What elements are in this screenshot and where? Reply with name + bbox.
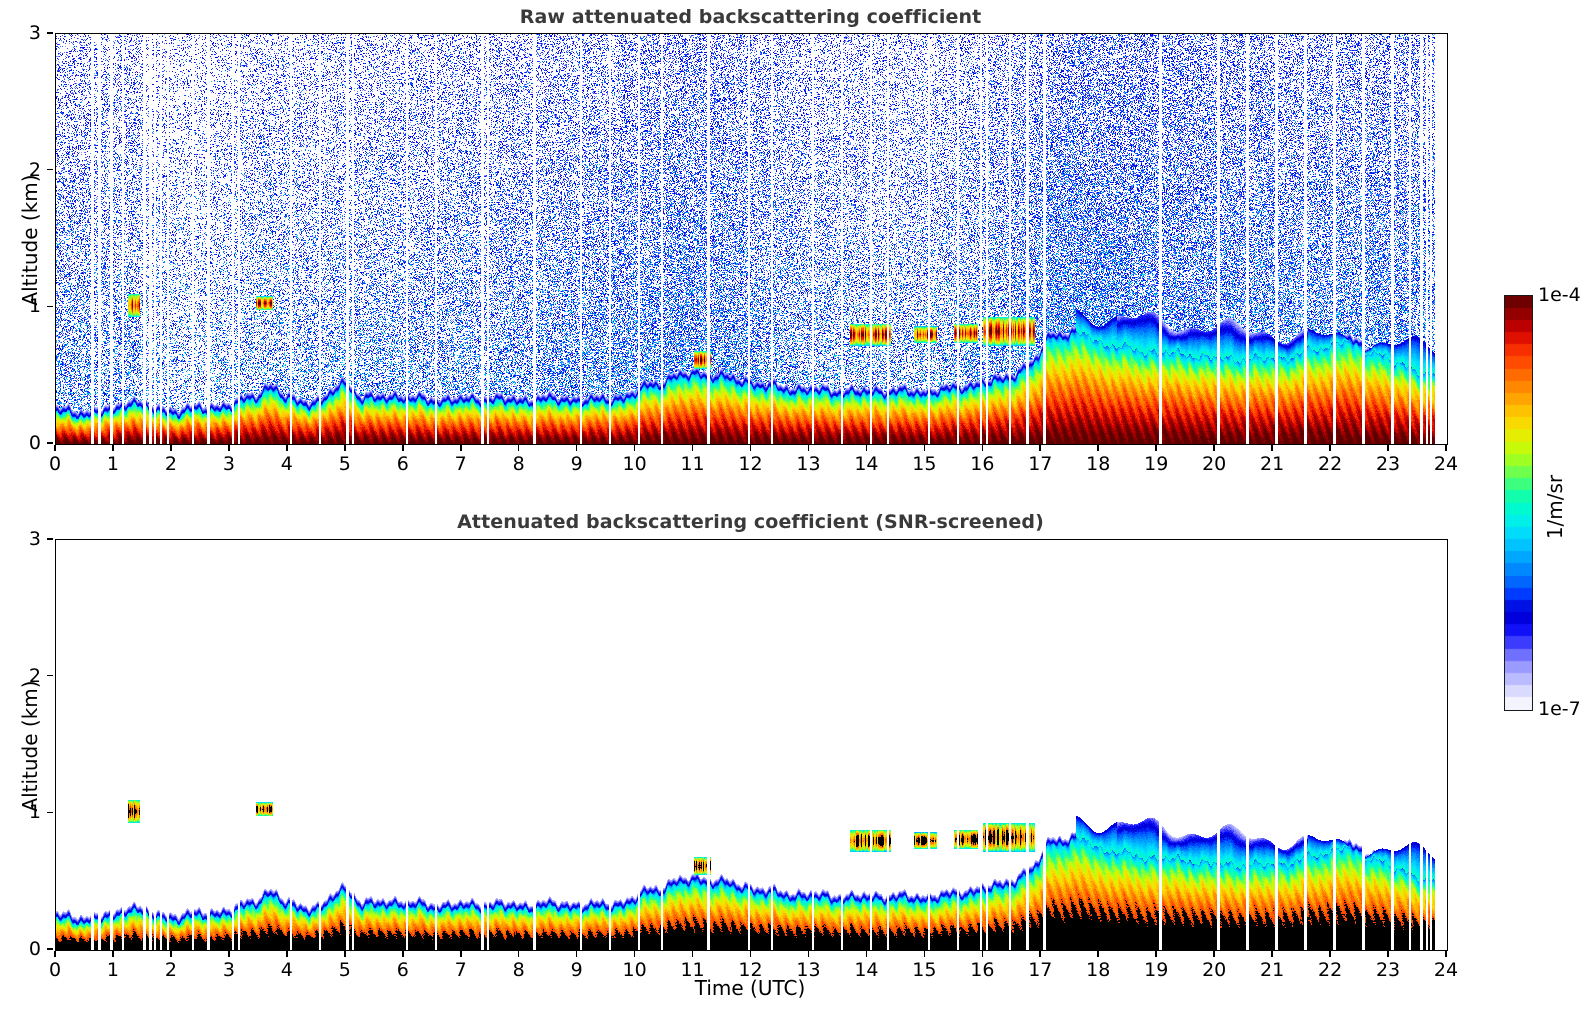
lidar-backscatter-figure: Raw attenuated backscattering coefficien… — [0, 0, 1595, 1020]
xlabel-screened: Time (UTC) — [695, 976, 806, 1000]
xtick-mark — [924, 951, 926, 957]
ytick-mark — [47, 306, 53, 308]
xtick-mark — [344, 445, 346, 451]
xtick-mark — [808, 445, 810, 451]
xtick-label: 18 — [1086, 453, 1110, 475]
xtick-mark — [402, 951, 404, 957]
ytick-label: 3 — [7, 22, 41, 44]
xtick-label: 22 — [1318, 453, 1342, 475]
xtick-label: 6 — [397, 453, 409, 475]
ytick-mark — [47, 32, 53, 34]
xtick-label: 10 — [622, 959, 646, 981]
xtick-mark — [228, 951, 230, 957]
axes-screened — [55, 539, 1448, 951]
xtick-label: 5 — [339, 453, 351, 475]
xtick-mark — [692, 951, 694, 957]
xtick-label: 24 — [1434, 959, 1458, 981]
xtick-mark — [286, 445, 288, 451]
xtick-mark — [460, 951, 462, 957]
xtick-label: 24 — [1434, 453, 1458, 475]
xtick-mark — [1097, 445, 1099, 451]
xtick-mark — [286, 951, 288, 957]
colorbar — [1504, 295, 1533, 711]
xtick-label: 3 — [223, 959, 235, 981]
xtick-label: 12 — [738, 453, 762, 475]
xtick-label: 2 — [165, 959, 177, 981]
xtick-label: 14 — [854, 453, 878, 475]
xtick-label: 3 — [223, 453, 235, 475]
xtick-mark — [866, 445, 868, 451]
xtick-label: 5 — [339, 959, 351, 981]
xtick-mark — [1329, 445, 1331, 451]
xtick-mark — [634, 951, 636, 957]
xtick-label: 9 — [571, 453, 583, 475]
xtick-mark — [170, 951, 172, 957]
xtick-mark — [1155, 445, 1157, 451]
ytick-mark — [47, 675, 53, 677]
ytick-label: 1 — [7, 295, 41, 317]
xtick-mark — [1097, 951, 1099, 957]
xtick-label: 19 — [1144, 959, 1168, 981]
xtick-label: 15 — [912, 959, 936, 981]
xtick-label: 6 — [397, 959, 409, 981]
xtick-label: 8 — [513, 959, 525, 981]
xtick-mark — [170, 445, 172, 451]
ytick-mark — [47, 442, 53, 444]
xtick-label: 21 — [1260, 959, 1284, 981]
xtick-label: 23 — [1376, 453, 1400, 475]
heatmap-raw — [56, 34, 1447, 444]
xtick-label: 19 — [1144, 453, 1168, 475]
xtick-mark — [228, 445, 230, 451]
ytick-label: 0 — [7, 938, 41, 960]
xtick-label: 13 — [796, 453, 820, 475]
panel-title-raw: Raw attenuated backscattering coefficien… — [55, 6, 1446, 28]
xtick-mark — [518, 445, 520, 451]
xtick-mark — [112, 951, 114, 957]
ytick-mark — [47, 538, 53, 540]
xtick-mark — [1213, 445, 1215, 451]
xtick-label: 2 — [165, 453, 177, 475]
xtick-label: 18 — [1086, 959, 1110, 981]
xtick-mark — [1387, 951, 1389, 957]
colorbar-tick-max: 1e-4 — [1538, 284, 1581, 306]
xtick-mark — [1039, 951, 1041, 957]
xtick-label: 14 — [854, 959, 878, 981]
xtick-mark — [576, 951, 578, 957]
xtick-mark — [866, 951, 868, 957]
xtick-label: 17 — [1028, 453, 1052, 475]
xtick-label: 21 — [1260, 453, 1284, 475]
xtick-label: 10 — [622, 453, 646, 475]
ytick-mark — [47, 948, 53, 950]
xtick-mark — [692, 445, 694, 451]
xtick-label: 1 — [107, 453, 119, 475]
xtick-label: 0 — [49, 453, 61, 475]
xtick-mark — [1271, 445, 1273, 451]
xtick-label: 20 — [1202, 453, 1226, 475]
heatmap-screened — [56, 540, 1447, 950]
xtick-label: 0 — [49, 959, 61, 981]
xtick-label: 7 — [455, 959, 467, 981]
xtick-label: 22 — [1318, 959, 1342, 981]
panel-title-screened: Attenuated backscattering coefficient (S… — [55, 511, 1446, 533]
ytick-label: 3 — [7, 528, 41, 550]
xtick-mark — [1155, 951, 1157, 957]
xtick-mark — [576, 445, 578, 451]
colorbar-label: 1/m/sr — [1543, 457, 1567, 557]
xtick-label: 16 — [970, 453, 994, 475]
xtick-label: 4 — [281, 453, 293, 475]
xtick-mark — [808, 951, 810, 957]
xtick-mark — [750, 445, 752, 451]
xtick-mark — [982, 445, 984, 451]
xtick-label: 4 — [281, 959, 293, 981]
ytick-mark — [47, 812, 53, 814]
ytick-label: 0 — [7, 432, 41, 454]
xtick-mark — [982, 951, 984, 957]
axes-raw — [55, 33, 1448, 445]
xtick-label: 15 — [912, 453, 936, 475]
ytick-label: 1 — [7, 801, 41, 823]
xtick-label: 1 — [107, 959, 119, 981]
xtick-mark — [1387, 445, 1389, 451]
xtick-mark — [54, 951, 56, 957]
xtick-mark — [924, 445, 926, 451]
ytick-label: 2 — [7, 159, 41, 181]
xtick-mark — [1271, 951, 1273, 957]
ytick-mark — [47, 169, 53, 171]
xtick-mark — [1445, 951, 1447, 957]
xtick-mark — [460, 445, 462, 451]
xtick-label: 8 — [513, 453, 525, 475]
xtick-label: 7 — [455, 453, 467, 475]
xtick-mark — [402, 445, 404, 451]
xtick-label: 20 — [1202, 959, 1226, 981]
xtick-mark — [1445, 445, 1447, 451]
xtick-mark — [634, 445, 636, 451]
xtick-mark — [1039, 445, 1041, 451]
xtick-mark — [344, 951, 346, 957]
xtick-label: 16 — [970, 959, 994, 981]
colorbar-tick-min: 1e-7 — [1538, 698, 1581, 720]
ytick-label: 2 — [7, 665, 41, 687]
xtick-label: 23 — [1376, 959, 1400, 981]
xtick-label: 17 — [1028, 959, 1052, 981]
xtick-mark — [750, 951, 752, 957]
xtick-label: 9 — [571, 959, 583, 981]
xtick-mark — [1329, 951, 1331, 957]
xtick-mark — [112, 445, 114, 451]
xtick-mark — [54, 445, 56, 451]
xtick-mark — [1213, 951, 1215, 957]
xtick-label: 11 — [680, 453, 704, 475]
colorbar-gradient — [1505, 296, 1532, 710]
xtick-mark — [518, 951, 520, 957]
